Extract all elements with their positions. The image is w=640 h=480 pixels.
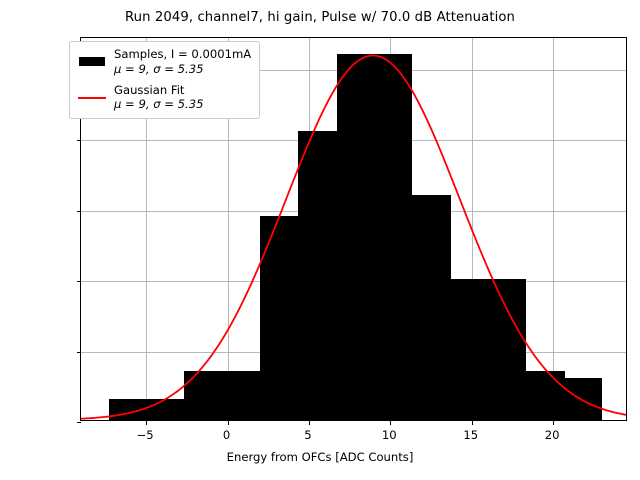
x-tick-4: [472, 420, 473, 425]
chart-title: Run 2049, channel7, hi gain, Pulse w/ 70…: [0, 10, 640, 25]
legend-label: Samples, I = 0.0001mAμ = 9, σ = 5.35: [114, 47, 251, 77]
y-tick-4: [77, 140, 82, 141]
x-tick-1: [228, 420, 229, 425]
x-tick-0: [146, 420, 147, 425]
swatch: [79, 57, 105, 66]
x-tick-label: 10: [349, 428, 429, 442]
figure-canvas: Run 2049, channel7, hi gain, Pulse w/ 70…: [0, 0, 640, 480]
legend-label-line1: Gaussian Fit: [114, 83, 203, 98]
y-tick-2: [77, 281, 82, 282]
x-tick-2: [309, 420, 310, 425]
legend-patch-swatch: [78, 52, 106, 72]
legend-entry-0[interactable]: Samples, I = 0.0001mAμ = 9, σ = 5.35: [78, 47, 251, 77]
x-tick-label: −5: [105, 428, 185, 442]
legend-label: Gaussian Fitμ = 9, σ = 5.35: [114, 83, 203, 113]
legend-label-line2: μ = 9, σ = 5.35: [114, 97, 203, 112]
chart-legend[interactable]: Samples, I = 0.0001mAμ = 9, σ = 5.35Gaus…: [69, 41, 260, 119]
legend-entry-1[interactable]: Gaussian Fitμ = 9, σ = 5.35: [78, 83, 251, 113]
x-tick-label: 5: [268, 428, 348, 442]
y-tick-0: [77, 422, 82, 423]
x-axis-label: Energy from OFCs [ADC Counts]: [0, 450, 640, 464]
x-tick-label: 20: [512, 428, 592, 442]
x-tick-label: 15: [431, 428, 511, 442]
x-tick-label: 0: [187, 428, 267, 442]
legend-label-line2: μ = 9, σ = 5.35: [114, 62, 251, 77]
y-tick-1: [77, 352, 82, 353]
legend-label-line1: Samples, I = 0.0001mA: [114, 47, 251, 62]
y-tick-3: [77, 211, 82, 212]
legend-line-swatch: [78, 87, 106, 107]
x-tick-5: [553, 420, 554, 425]
swatch: [78, 97, 106, 99]
x-tick-3: [390, 420, 391, 425]
